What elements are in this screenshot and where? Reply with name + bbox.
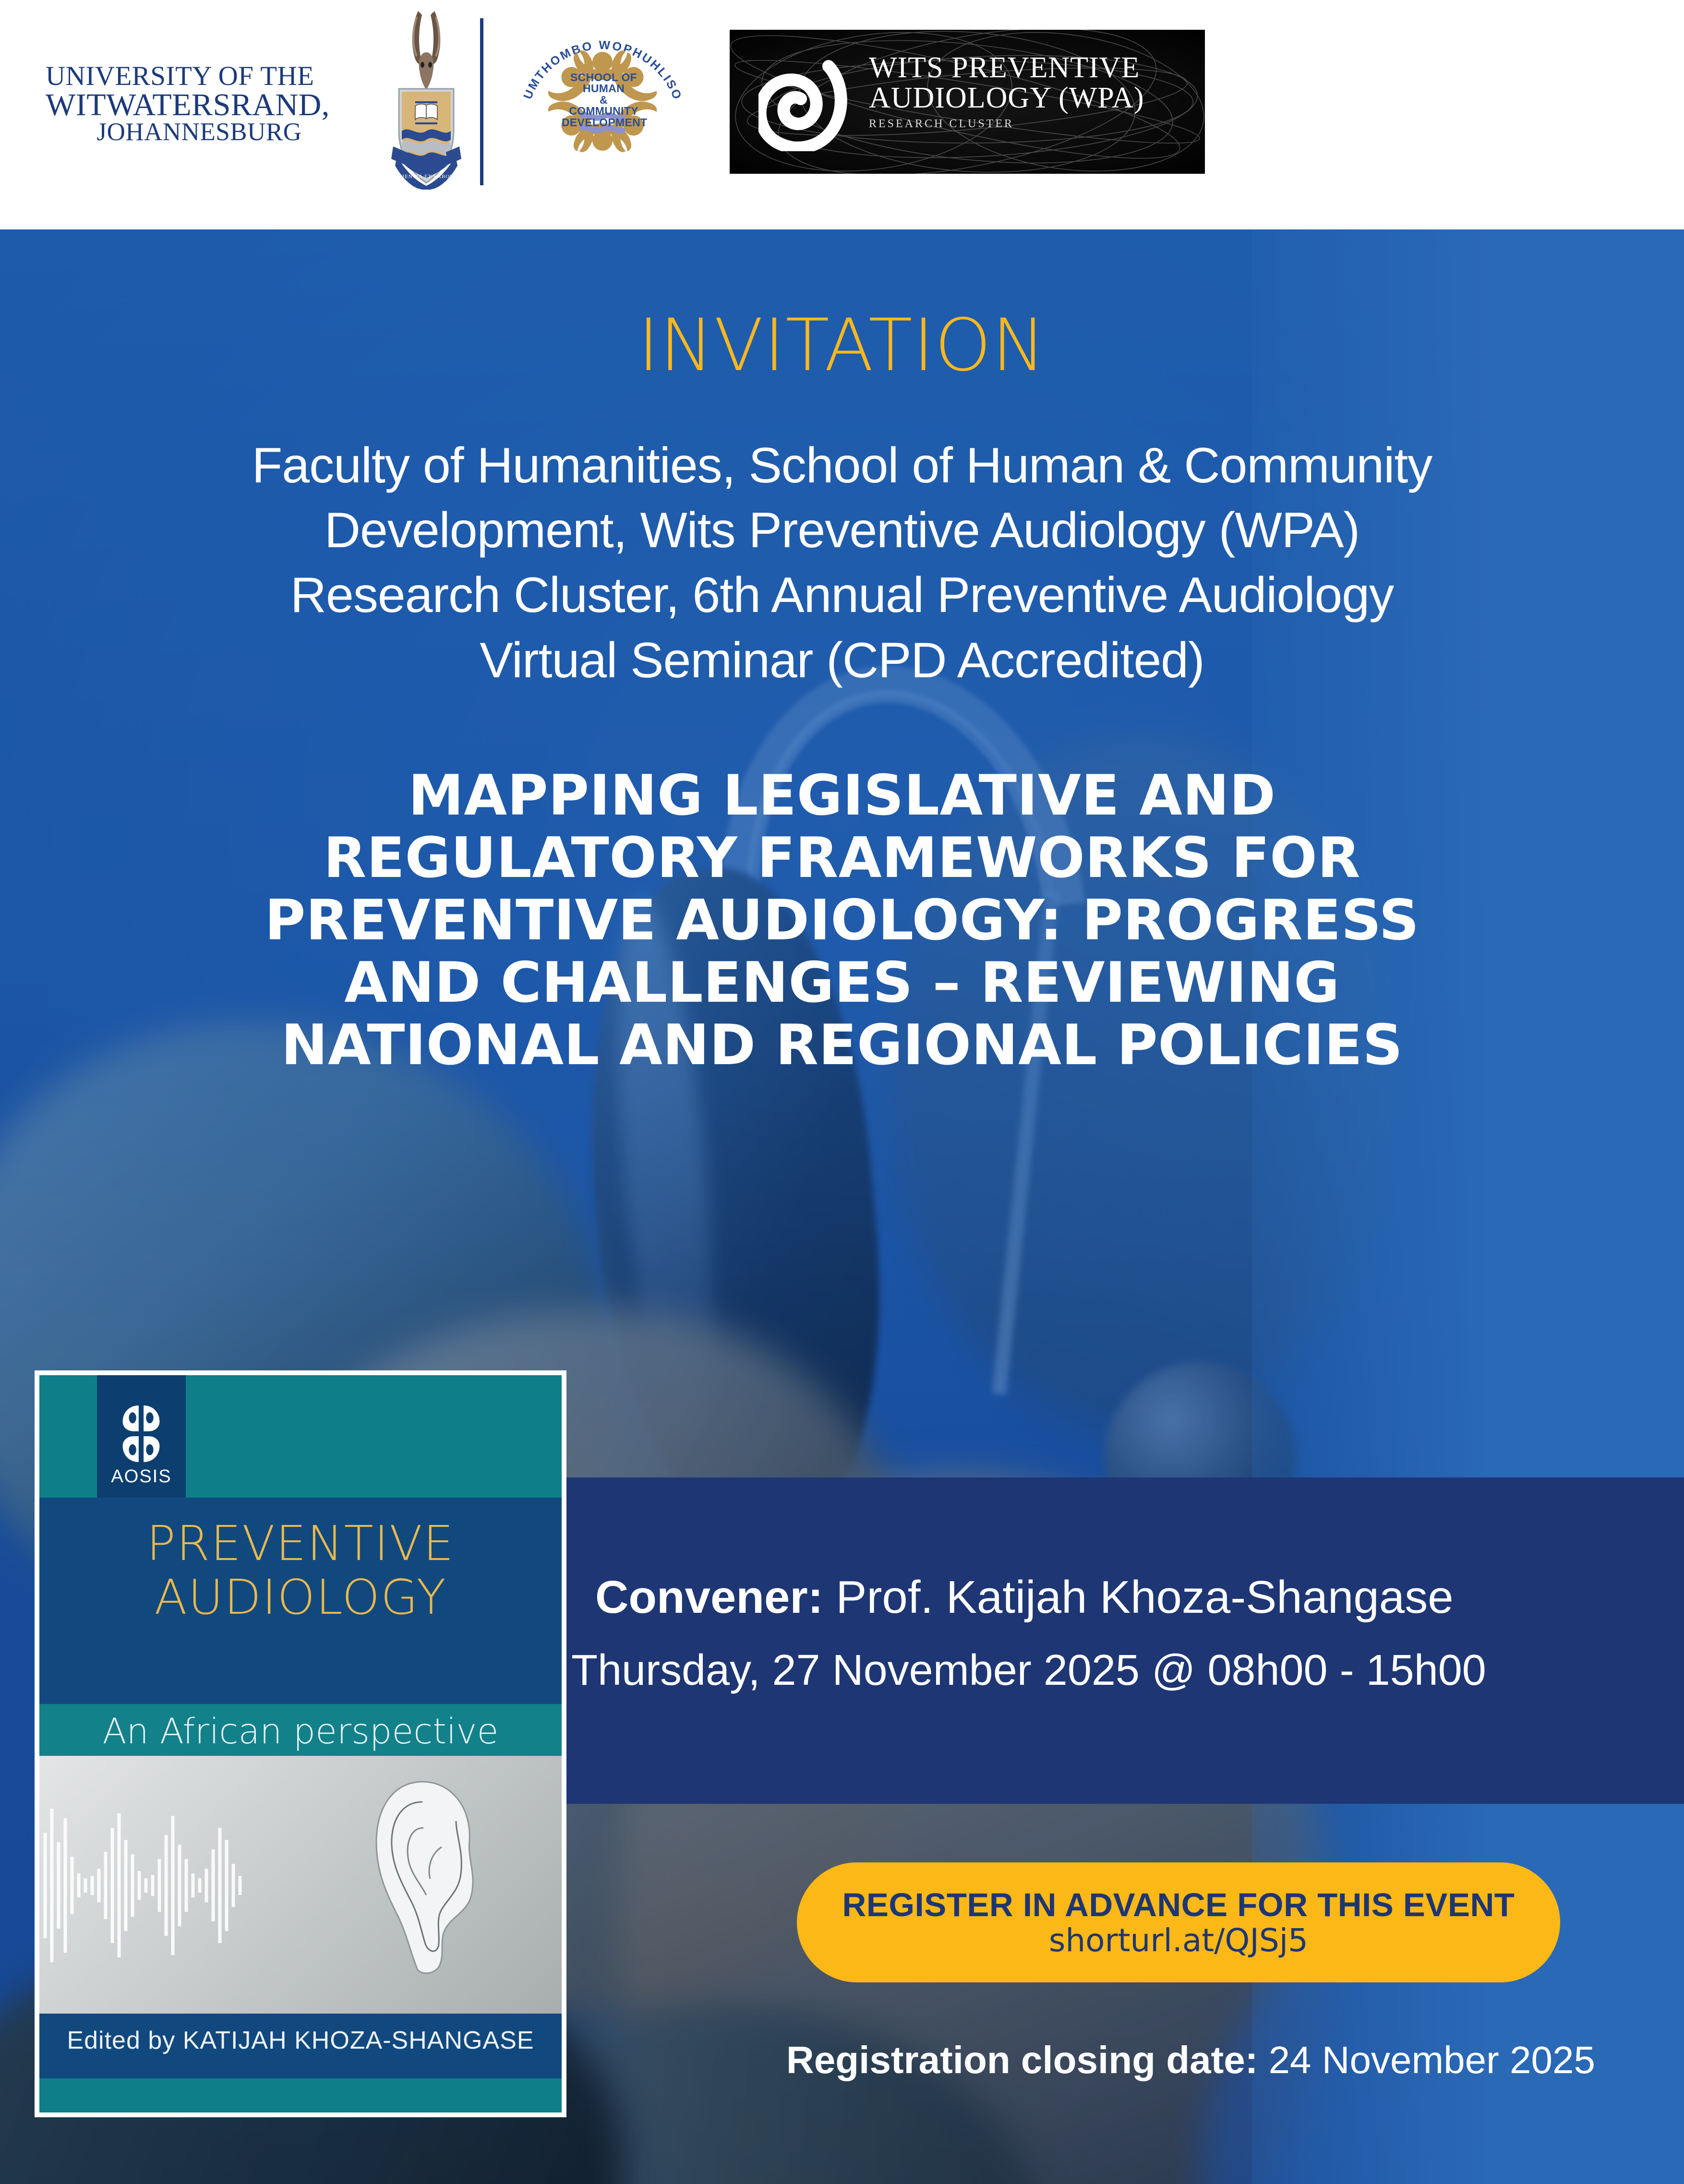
- seminar-title-line-3: PREVENTIVE AUDIOLOGY: PROGRESS: [74, 889, 1610, 952]
- wits-university-logo: UNIVERSITY OF THE WITWATERSRAND, JOHANNE…: [46, 53, 468, 192]
- book-cover-ear-photo: [39, 1756, 562, 2014]
- invitation-poster: UNIVERSITY OF THE WITWATERSRAND, JOHANNE…: [0, 0, 1684, 2184]
- header-divider: [480, 18, 483, 185]
- shcd-center-line-1: SCHOOL OF: [562, 72, 646, 83]
- seminar-title: MAPPING LEGISLATIVE AND REGULATORY FRAME…: [74, 765, 1610, 1077]
- register-button[interactable]: REGISTER IN ADVANCE FOR THIS EVENT short…: [797, 1862, 1560, 1982]
- aosis-logo-icon: [110, 1403, 172, 1464]
- wpa-wordmark: WITS PREVENTIVE AUDIOLOGY (WPA) RESEARCH…: [869, 53, 1144, 130]
- book-cover-editor: Edited by KATIJAH KHOZA-SHANGASE: [39, 2026, 562, 2055]
- intro-line-2: Development, Wits Preventive Audiology (…: [122, 498, 1562, 563]
- intro-line-4: Virtual Seminar (CPD Accredited): [122, 628, 1562, 693]
- event-datetime: Thursday, 27 November 2025 @ 08h00 - 15h…: [571, 1648, 1675, 1693]
- header-logo-bar: UNIVERSITY OF THE WITWATERSRAND, JOHANNE…: [0, 0, 1684, 229]
- intro-line-3: Research Cluster, 6th Annual Preventive …: [122, 563, 1562, 628]
- seminar-title-line-5: NATIONAL AND REGIONAL POLICIES: [74, 1014, 1610, 1077]
- wpa-line-2: AUDIOLOGY (WPA): [869, 83, 1144, 113]
- wits-preventive-audiology-logo: WITS PREVENTIVE AUDIOLOGY (WPA) RESEARCH…: [730, 30, 1205, 174]
- shcd-center-text: SCHOOL OF HUMAN & COMMUNITY DEVELOPMENT: [562, 72, 646, 128]
- registration-closing-label: Registration closing date:: [786, 2039, 1258, 2081]
- book-cover-waveform: [39, 1756, 347, 2014]
- book-cover-ear-icon: [350, 1775, 494, 1977]
- wits-crest-motto: SCIENTIA ET LABORE: [395, 174, 457, 180]
- seminar-title-line-1: MAPPING LEGISLATIVE AND: [74, 765, 1610, 827]
- event-details-panel: [552, 1477, 1684, 1804]
- shcd-center-line-3: &: [562, 95, 646, 106]
- school-of-human-community-development-logo: UMTHOMBO WOPHUHLISO LOLUNTU: [516, 12, 689, 214]
- wits-line-3: JOHANNESBURG: [46, 120, 353, 144]
- wits-crest-icon: SCIENTIA ET LABORE: [390, 2, 462, 190]
- convener-label: Convener:: [595, 1572, 823, 1623]
- wpa-spiral-icon: [758, 53, 854, 151]
- book-cover-title-line-2: AUDIOLOGY: [39, 1571, 562, 1624]
- convener-name: Prof. Katijah Khoza-Shangase: [836, 1572, 1453, 1623]
- register-button-label: REGISTER IN ADVANCE FOR THIS EVENT: [842, 1887, 1515, 1923]
- book-cover-bottom-band: [39, 2078, 562, 2112]
- intro-line-1: Faculty of Humanities, School of Human &…: [122, 433, 1562, 498]
- shcd-center-line-5: DEVELOPMENT: [562, 117, 646, 128]
- wits-line-1: UNIVERSITY OF THE: [46, 63, 382, 90]
- registration-closing-date: 24 November 2025: [1269, 2039, 1595, 2081]
- intro-paragraph: Faculty of Humanities, School of Human &…: [122, 433, 1562, 693]
- wpa-line-1: WITS PREVENTIVE: [869, 53, 1144, 83]
- seminar-title-line-2: REGULATORY FRAMEWORKS FOR: [74, 827, 1610, 889]
- book-cover-title-line-1: PREVENTIVE: [39, 1517, 562, 1571]
- book-cover-subtitle: An African perspective: [39, 1711, 562, 1752]
- invitation-heading: INVITATION: [0, 304, 1684, 387]
- book-cover-inner: AOSIS PREVENTIVE AUDIOLOGY An African pe…: [39, 1375, 562, 2112]
- convener-line: Convener: Prof. Katijah Khoza-Shangase: [595, 1573, 1651, 1622]
- wpa-line-3: RESEARCH CLUSTER: [869, 118, 1144, 130]
- register-button-url: shorturl.at/QJSj5: [1049, 1923, 1308, 1958]
- wits-line-2: WITWATERSRAND,: [46, 90, 382, 120]
- seminar-title-line-4: AND CHALLENGES – REVIEWING: [74, 952, 1610, 1014]
- shcd-center-line-2: HUMAN: [562, 83, 646, 94]
- shcd-center-line-4: COMMUNITY: [562, 106, 646, 117]
- book-cover-image: AOSIS PREVENTIVE AUDIOLOGY An African pe…: [35, 1370, 566, 2117]
- wits-wordmark: UNIVERSITY OF THE WITWATERSRAND, JOHANNE…: [46, 63, 382, 144]
- book-cover-title: PREVENTIVE AUDIOLOGY: [39, 1517, 562, 1624]
- book-cover-publisher-name: AOSIS: [97, 1466, 186, 1487]
